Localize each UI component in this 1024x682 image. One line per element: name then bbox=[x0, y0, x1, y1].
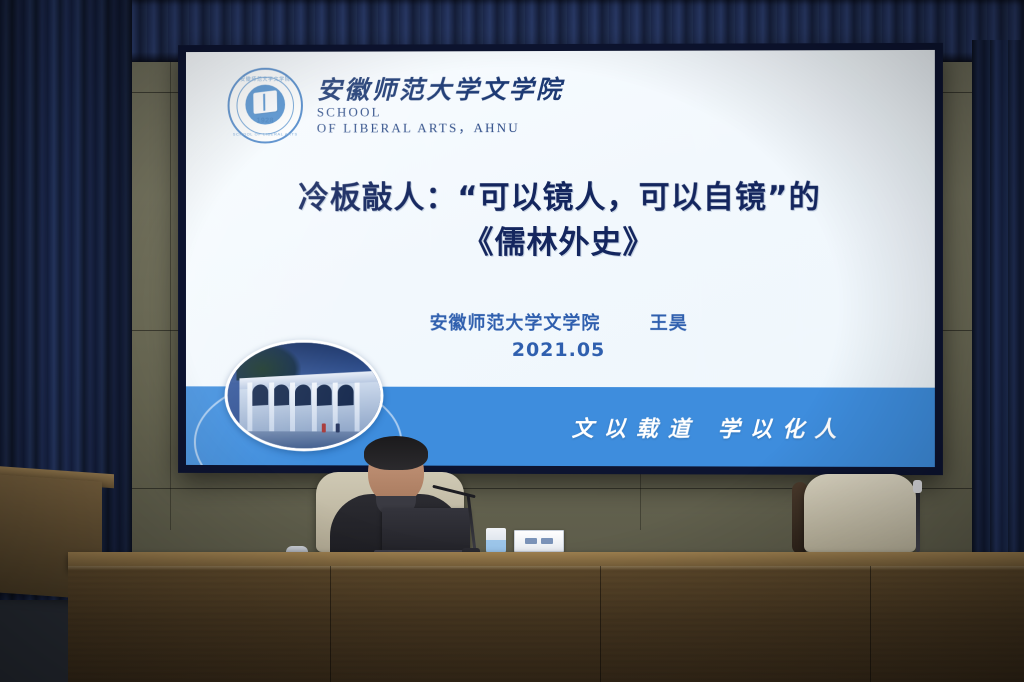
empty-chair bbox=[804, 474, 916, 552]
podium-panel-seam bbox=[870, 566, 871, 682]
campus-photo bbox=[225, 340, 384, 452]
podium-front-panel bbox=[68, 566, 1024, 682]
slide-motto: 文以载道 学以化人 bbox=[484, 410, 935, 443]
slide-title: 冷板敲人：“可以镜人，可以自镜”的 《儒林外史》 bbox=[186, 176, 935, 266]
slide-institution-en-line1: SCHOOL bbox=[317, 103, 564, 120]
emblem-arc-bottom-text: SCHOOL OF LIBERAL ARTS bbox=[228, 131, 303, 136]
emblem-year: 1928 bbox=[228, 117, 303, 124]
right-stage-curtain bbox=[972, 40, 1024, 580]
microphone-head-right bbox=[913, 480, 922, 493]
slide-institution-cn: 安徽师范大学文学院 bbox=[317, 76, 564, 104]
slide-title-line2: 《儒林外史》 bbox=[186, 221, 935, 266]
slide-title-line1: 冷板敲人：“可以镜人，可以自镜”的 bbox=[298, 180, 821, 216]
presentation-slide: 安徽师范大学文学院 1928 SCHOOL OF LIBERAL ARTS 安徽… bbox=[186, 50, 935, 467]
slide-affiliation-row: 安徽师范大学文学院 王昊 bbox=[186, 309, 935, 336]
desk-nameplate bbox=[514, 530, 564, 552]
podium-panel-seam bbox=[600, 566, 601, 682]
gooseneck-microphone-right bbox=[916, 486, 920, 552]
lecture-hall-scene: 安徽师范大学文学院 1928 SCHOOL OF LIBERAL ARTS 安徽… bbox=[0, 0, 1024, 682]
slide-presenter-name: 王昊 bbox=[650, 313, 688, 334]
podium-panel-seam bbox=[330, 566, 331, 682]
emblem-arc-top-text: 安徽师范大学文学院 bbox=[228, 76, 303, 83]
projection-screen-frame: 安徽师范大学文学院 1928 SCHOOL OF LIBERAL ARTS 安徽… bbox=[178, 43, 943, 475]
slide-header: 安徽师范大学文学院 1928 SCHOOL OF LIBERAL ARTS 安徽… bbox=[228, 67, 564, 144]
university-emblem-icon: 安徽师范大学文学院 1928 SCHOOL OF LIBERAL ARTS bbox=[228, 68, 303, 144]
wall-panel-line bbox=[170, 60, 171, 530]
slide-affiliation: 安徽师范大学文学院 bbox=[430, 313, 601, 334]
open-laptop bbox=[382, 508, 470, 552]
slide-institution-en-line2: OF LIBERAL ARTS，AHNU bbox=[317, 120, 564, 137]
